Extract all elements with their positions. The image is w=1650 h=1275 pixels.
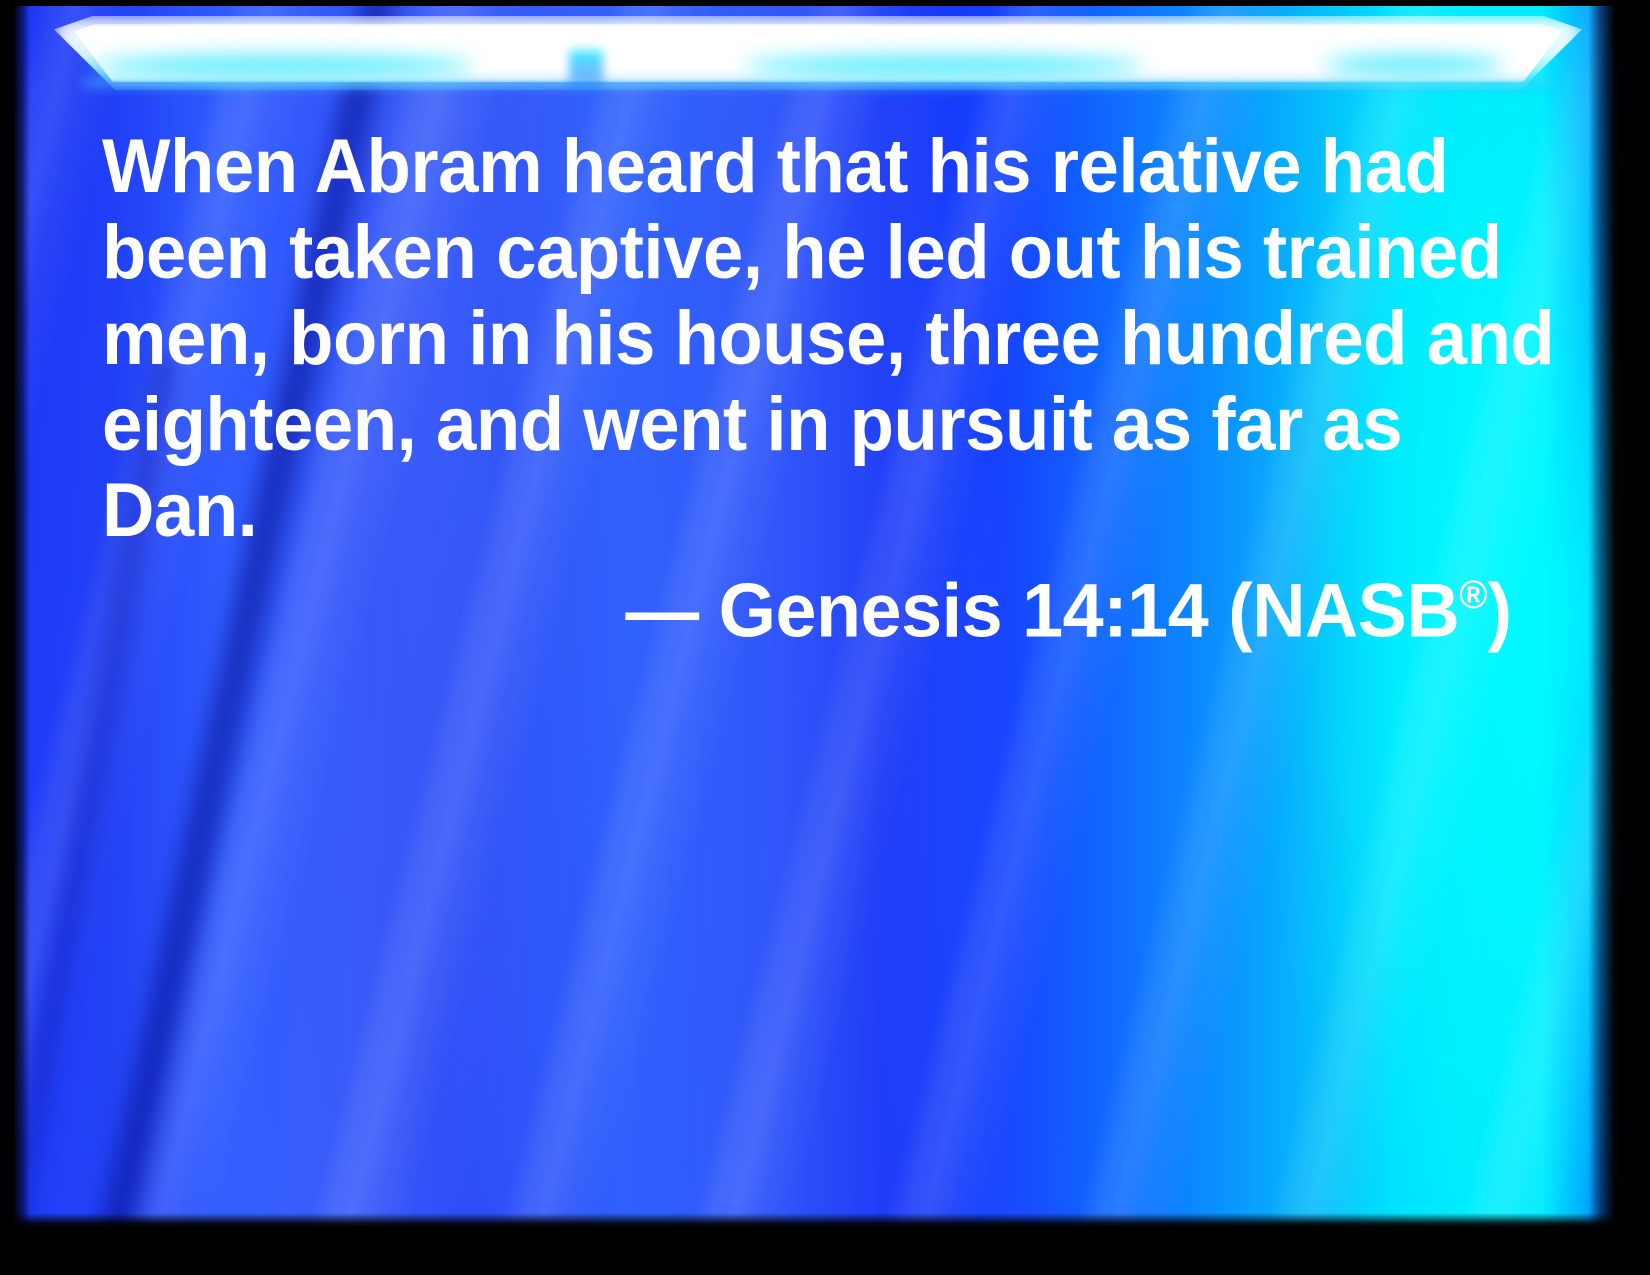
citation-prefix: — Genesis 14:14 (NASB: [626, 568, 1460, 653]
right-edge-vignette: [1588, 6, 1622, 1227]
verse-citation: — Genesis 14:14 (NASB®): [102, 552, 1512, 654]
verse-line-1: When Abram heard that his relative had: [102, 124, 1458, 210]
bottom-edge-vignette: [14, 1213, 1622, 1227]
verse-slide: When Abram heard that his relative had b…: [0, 0, 1650, 1275]
verse-line-5: Dan.: [102, 468, 1458, 554]
citation-line: — Genesis 14:14 (NASB®): [626, 552, 1512, 654]
left-edge-vignette: [14, 6, 30, 1227]
citation-suffix: ): [1488, 568, 1512, 653]
verse-line-4: eighteen, and went in pursuit as far as: [102, 382, 1458, 468]
verse-text-block: When Abram heard that his relative had b…: [102, 124, 1522, 554]
verse-line-2: been taken captive, he led out his train…: [102, 210, 1458, 296]
registered-trademark-icon: ®: [1460, 573, 1488, 617]
verse-line-3: men, born in his house, three hundred an…: [102, 296, 1458, 382]
slide-background-panel: When Abram heard that his relative had b…: [14, 6, 1622, 1227]
